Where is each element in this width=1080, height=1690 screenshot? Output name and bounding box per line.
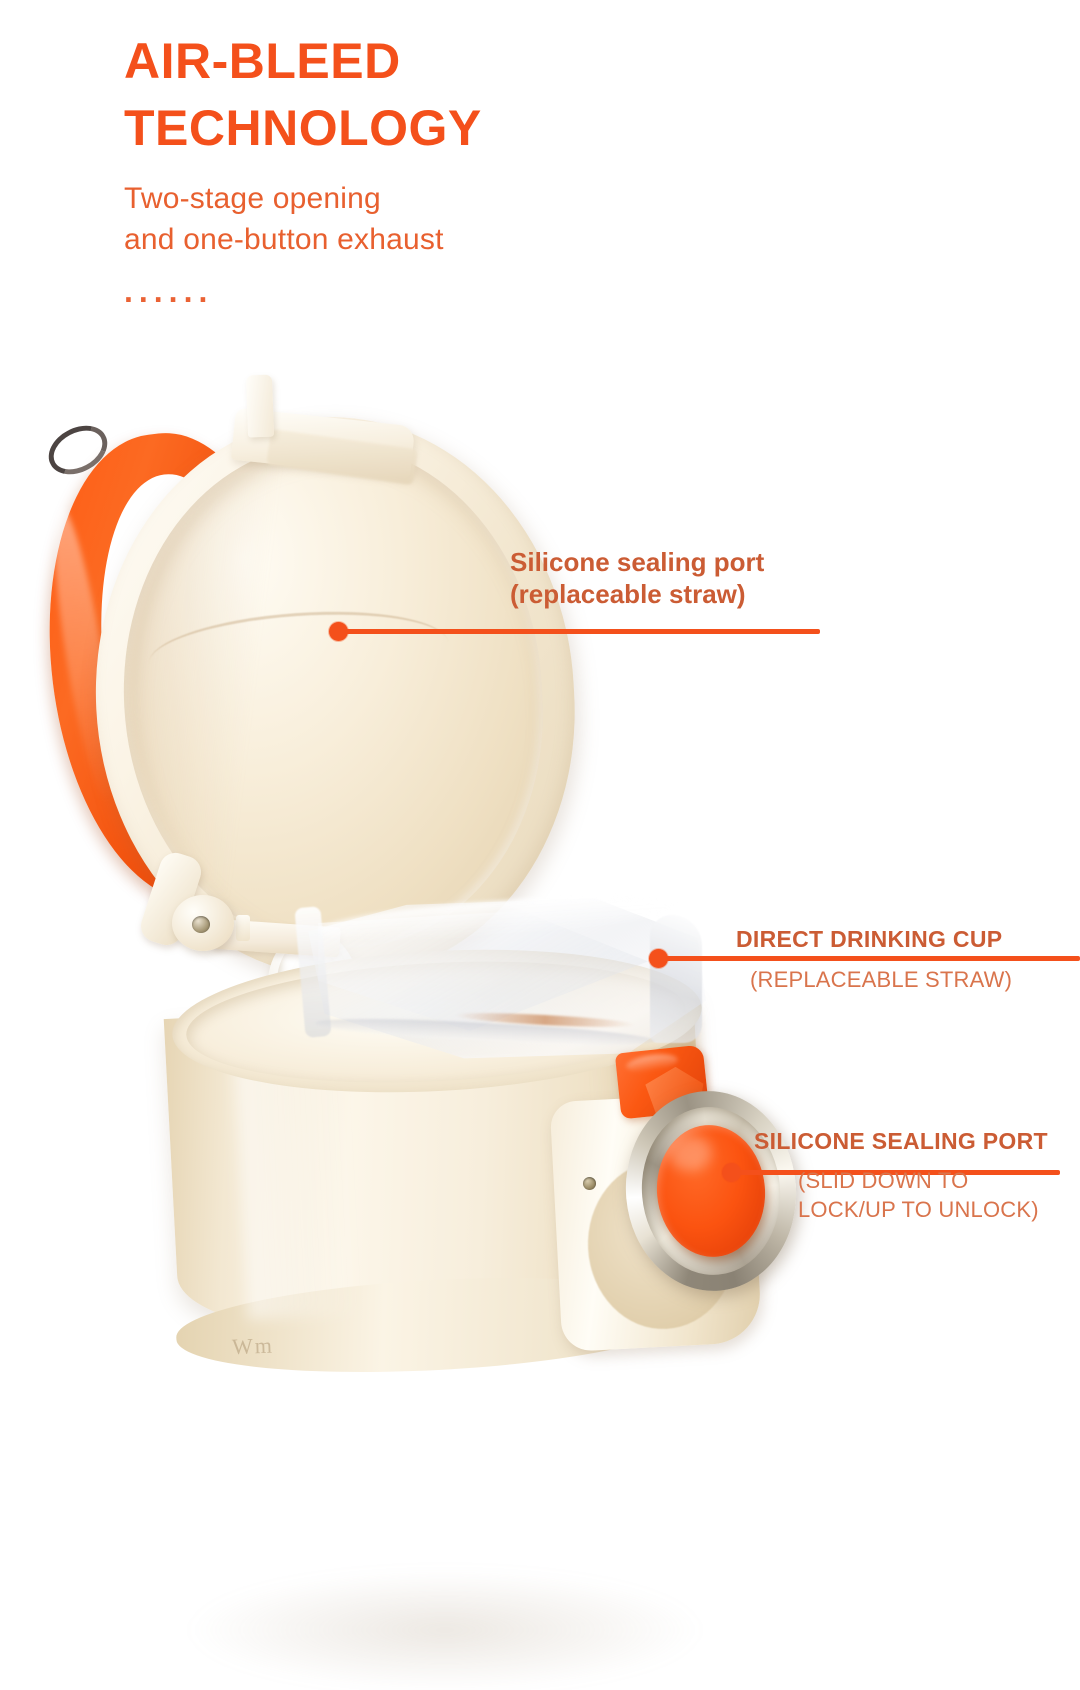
header-block: AIR-BLEED TECHNOLOGY Two-stage opening a… bbox=[124, 28, 824, 307]
callout-3-subtitle-line-1: (SLID DOWN TO bbox=[798, 1167, 1048, 1196]
flip-lid-latch-tab bbox=[246, 375, 274, 438]
callout-1-title-line-2: (replaceable straw) bbox=[510, 579, 764, 611]
page-title-line-1: AIR-BLEED bbox=[124, 28, 824, 95]
ellipsis-dots: ...... bbox=[124, 275, 824, 307]
page-subtitle: Two-stage opening and one-button exhaust bbox=[124, 178, 824, 261]
hinge-pin-screw bbox=[192, 916, 210, 933]
leader-line-silicone-port-lid bbox=[345, 629, 820, 634]
callout-direct-drinking-cup: DIRECT DRINKING CUP (REPLACEABLE STRAW) bbox=[736, 925, 1012, 995]
orange-button-highlight bbox=[668, 1135, 712, 1171]
page-subtitle-line-1: Two-stage opening bbox=[124, 178, 824, 219]
leader-dot-direct-drinking-cup bbox=[649, 949, 668, 968]
callout-3-title: SILICONE SEALING PORT bbox=[754, 1127, 1048, 1155]
hinge-bar-post bbox=[236, 915, 250, 941]
housing-screw-icon bbox=[583, 1177, 596, 1190]
callout-2-subtitle: (REPLACEABLE STRAW) bbox=[736, 966, 1012, 995]
leader-dot-silicone-port-lid bbox=[329, 622, 348, 641]
page-subtitle-line-2: and one-button exhaust bbox=[124, 219, 824, 260]
callout-silicone-sealing-port-lid: Silicone sealing port (replaceable straw… bbox=[510, 547, 764, 610]
callout-silicone-sealing-port-button: SILICONE SEALING PORT (SLID DOWN TO LOCK… bbox=[754, 1127, 1048, 1224]
callout-3-subtitle: (SLID DOWN TO LOCK/UP TO UNLOCK) bbox=[754, 1167, 1048, 1224]
page-title-line-2: TECHNOLOGY bbox=[124, 95, 824, 162]
callout-3-subtitle-line-2: LOCK/UP TO UNLOCK) bbox=[798, 1196, 1048, 1225]
ground-shadow bbox=[185, 1570, 705, 1690]
product-photo: Wm bbox=[0, 355, 860, 1350]
leader-dot-silicone-port-button bbox=[722, 1163, 741, 1182]
bottle-body-emboss: Wm bbox=[232, 1332, 295, 1360]
callout-2-title: DIRECT DRINKING CUP bbox=[736, 925, 1012, 953]
callout-1-title-line-1: Silicone sealing port bbox=[510, 547, 764, 579]
spout-right-edge bbox=[650, 915, 702, 1043]
